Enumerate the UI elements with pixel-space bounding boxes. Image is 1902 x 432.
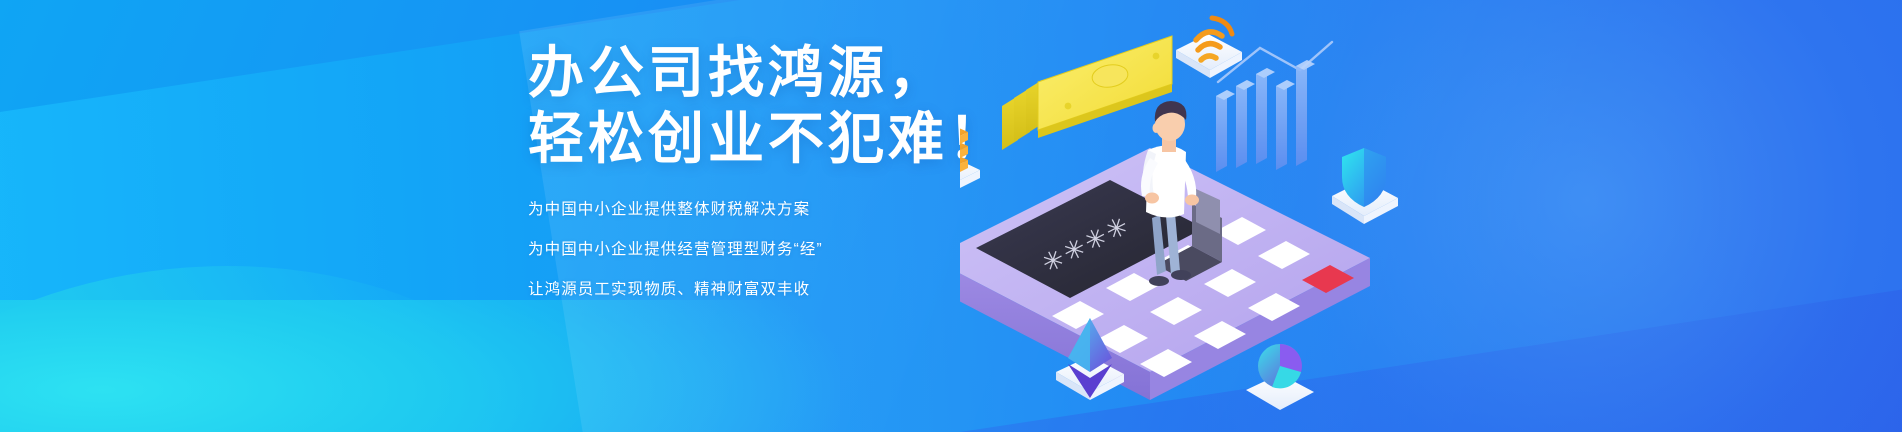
subtitle-line-3: 让鸿源员工实现物质、精神财富双丰收 xyxy=(528,278,998,302)
currency-wifi-icon xyxy=(1176,18,1242,78)
coin-stack-icon: $ xyxy=(960,124,980,196)
shield-icon xyxy=(1332,148,1398,224)
banner-subtitle-list: 为中国中小企业提供整体财税解决方案 为中国中小企业提供经营管理型财务“经” 让鸿… xyxy=(528,198,998,302)
banner-headline: 办公司找鸿源， 轻松创业不犯难！ xyxy=(528,40,998,172)
hero-banner: 办公司找鸿源， 轻松创业不犯难！ 为中国中小企业提供整体财税解决方案 为中国中小… xyxy=(0,0,1902,432)
pie-chart-icon xyxy=(1246,344,1314,410)
banner-copy: 办公司找鸿源， 轻松创业不犯难！ 为中国中小企业提供整体财税解决方案 为中国中小… xyxy=(528,40,998,302)
headline-line-2: 轻松创业不犯难！ xyxy=(528,106,998,172)
banner-illustration: $ ✳✳✳✳ xyxy=(960,0,1460,432)
banknotes-icon xyxy=(1002,36,1172,150)
headline-line-1: 办公司找鸿源， xyxy=(528,40,998,106)
subtitle-line-1: 为中国中小企业提供整体财税解决方案 xyxy=(528,198,998,222)
subtitle-line-2: 为中国中小企业提供经营管理型财务“经” xyxy=(528,238,998,262)
